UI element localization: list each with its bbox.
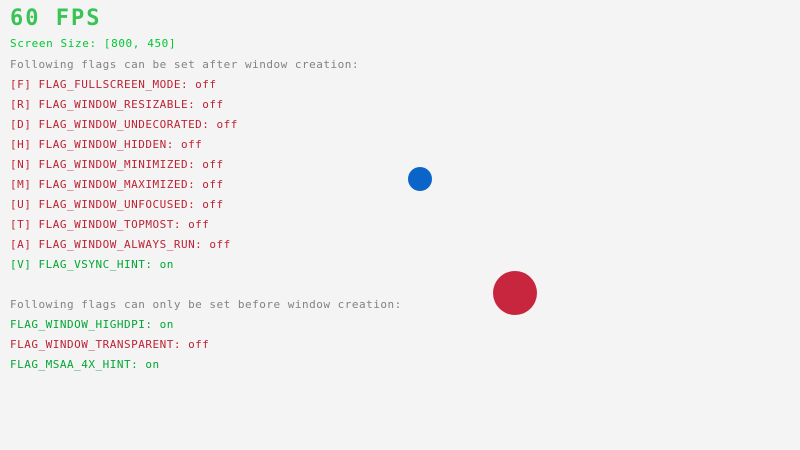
fps-counter: 60 FPS — [10, 8, 101, 30]
flag-row-flag-window-minimized[interactable]: [N] FLAG_WINDOW_MINIMIZED: off — [10, 159, 224, 170]
after-creation-section-header: Following flags can be set after window … — [10, 59, 359, 70]
blue-ball-shape — [408, 167, 432, 191]
flag-row-flag-window-maximized[interactable]: [M] FLAG_WINDOW_MAXIMIZED: off — [10, 179, 224, 190]
raylib-window-canvas: 60 FPS Screen Size: [800, 450] Following… — [0, 0, 800, 450]
red-ball-shape — [493, 271, 537, 315]
flag-row-flag-window-hidden[interactable]: [H] FLAG_WINDOW_HIDDEN: off — [10, 139, 202, 150]
flag-row-flag-msaa-4x-hint[interactable]: FLAG_MSAA_4X_HINT: on — [10, 359, 160, 370]
flag-row-flag-window-transparent[interactable]: FLAG_WINDOW_TRANSPARENT: off — [10, 339, 209, 350]
flag-row-flag-window-resizable[interactable]: [R] FLAG_WINDOW_RESIZABLE: off — [10, 99, 224, 110]
flag-row-flag-vsync-hint[interactable]: [V] FLAG_VSYNC_HINT: on — [10, 259, 174, 270]
flag-row-flag-window-undecorated[interactable]: [D] FLAG_WINDOW_UNDECORATED: off — [10, 119, 238, 130]
flag-row-flag-window-always-run[interactable]: [A] FLAG_WINDOW_ALWAYS_RUN: off — [10, 239, 231, 250]
before-creation-section-header: Following flags can only be set before w… — [10, 299, 402, 310]
flag-row-flag-window-highdpi[interactable]: FLAG_WINDOW_HIGHDPI: on — [10, 319, 174, 330]
flag-row-flag-window-topmost[interactable]: [T] FLAG_WINDOW_TOPMOST: off — [10, 219, 209, 230]
screen-size-label: Screen Size: [800, 450] — [10, 38, 176, 49]
flag-row-flag-window-unfocused[interactable]: [U] FLAG_WINDOW_UNFOCUSED: off — [10, 199, 224, 210]
flag-row-flag-fullscreen-mode[interactable]: [F] FLAG_FULLSCREEN_MODE: off — [10, 79, 217, 90]
